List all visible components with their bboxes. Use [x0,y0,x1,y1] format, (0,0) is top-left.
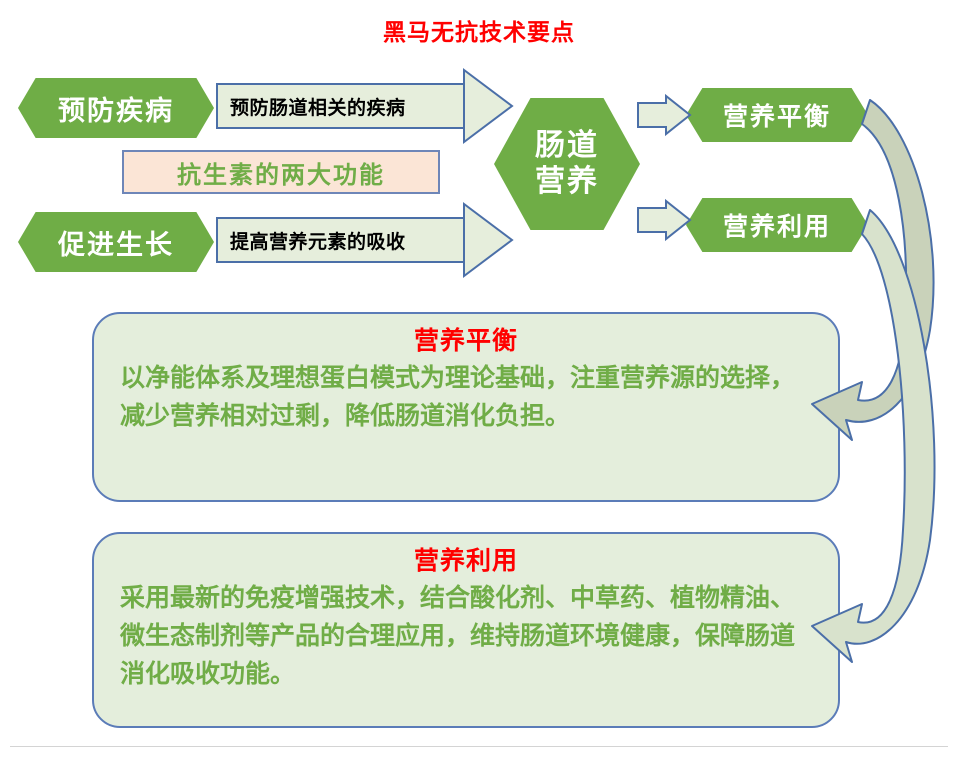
right-arrow-icon-top [638,96,690,134]
detail-box-nutrition-utilization-title: 营养利用 [120,544,812,577]
right-arrow-icon-bottom [638,201,690,239]
detail-box-nutrition-utilization[interactable]: 营养利用 采用最新的免疫增强技术，结合酸化剂、中草药、植物精油、微生态制剂等产品… [92,532,840,728]
chevron-nutrition-utilization-label: 营养利用 [723,207,831,243]
note-antibiotic-two-functions-label: 抗生素的两大功能 [177,155,385,190]
page-title: 黑马无抗技术要点 [0,18,958,48]
hexagon-intestinal-nutrition[interactable]: 肠道 营养 [494,98,640,230]
detail-box-nutrition-balance-title: 营养平衡 [120,324,812,357]
chevron-promote-growth-label: 促进生长 [58,223,174,262]
hexagon-line-1: 肠道 [535,128,599,164]
diagram-canvas: 黑马无抗技术要点 预防疾病 促进生长 预防肠道相关的疾病 提高营养元素的吸收 抗… [0,0,958,757]
label-arrow-improve-absorption[interactable]: 提高营养元素的吸收 [216,217,466,263]
detail-box-nutrition-utilization-body: 采用最新的免疫增强技术，结合酸化剂、中草药、植物精油、微生态制剂等产品的合理应用… [120,579,812,693]
label-arrow-prevent-intestinal-disease-text: 预防肠道相关的疾病 [230,93,406,120]
note-antibiotic-two-functions[interactable]: 抗生素的两大功能 [122,150,440,194]
chevron-nutrition-balance-label: 营养平衡 [723,97,831,133]
chevron-promote-growth[interactable]: 促进生长 [18,212,214,272]
hexagon-line-2: 营养 [535,164,599,200]
label-arrowhead-promote-growth [464,204,512,276]
detail-box-nutrition-balance-body: 以净能体系及理想蛋白模式为理论基础，注重营养源的选择，减少营养相对过剩，降低肠道… [120,359,812,435]
bottom-divider [10,746,948,747]
label-arrow-improve-absorption-text: 提高营养元素的吸收 [230,227,406,254]
detail-box-nutrition-balance[interactable]: 营养平衡 以净能体系及理想蛋白模式为理论基础，注重营养源的选择，减少营养相对过剩… [92,312,840,502]
chevron-prevent-disease[interactable]: 预防疾病 [18,78,214,138]
chevron-nutrition-utilization[interactable]: 营养利用 [686,198,868,252]
chevron-nutrition-balance[interactable]: 营养平衡 [686,88,868,142]
label-arrow-prevent-intestinal-disease[interactable]: 预防肠道相关的疾病 [216,83,466,129]
chevron-prevent-disease-label: 预防疾病 [58,89,174,128]
label-arrowhead-prevent-disease [464,70,512,142]
